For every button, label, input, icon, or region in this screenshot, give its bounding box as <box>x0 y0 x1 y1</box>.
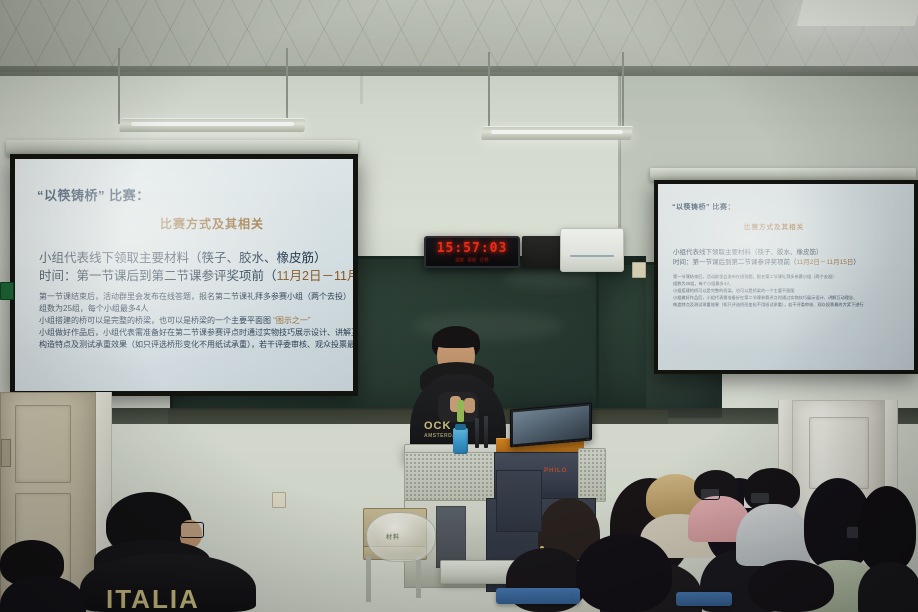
student-row-1-e-torso <box>858 562 918 612</box>
slide-line-2-prefix: 时间：第一节课后到第二节课参评奖项前（ <box>39 269 277 283</box>
student-row-1-e <box>858 486 918 612</box>
student-row-2-d-shirt <box>736 504 810 566</box>
slide-small-3-quote: “图示之一” <box>273 316 310 325</box>
student-row-0-c-hair <box>748 560 834 612</box>
student-row-0-c <box>748 560 838 612</box>
slide-small-5-right: 构造特点及测试承重效果（如只评选桥形变化不用纸试承重），若干评委审核、观众投票最… <box>673 302 864 308</box>
slide-small-4-right: 小组做好作品后，小组代表需准备好在第二节课参赛评点时通过实物技巧展示设计、讲解互… <box>673 295 857 301</box>
hanging-tube-light-left <box>119 118 306 132</box>
student-row-2-pink-glasses <box>700 488 720 500</box>
projection-screen-left: “以筷铸桥” 比赛： 比赛方式及其相关 小组代表线下领取主要材料（筷子、胶水、橡… <box>10 154 358 396</box>
ceiling-strip-light <box>797 0 918 26</box>
chair-leg-right <box>416 556 421 598</box>
microphone-stand-2 <box>484 416 488 448</box>
slide-subtitle: 比赛方式及其相关 <box>160 215 264 232</box>
student-row-2-d-glasses <box>750 492 770 504</box>
chair-leg-left <box>366 556 371 602</box>
podium-brand-label: PHILO <box>544 468 567 474</box>
slide-line-2-right-prefix: 时间：第一节课后到第二节课参评奖项前（ <box>673 259 797 266</box>
student-row-1-e-hair <box>858 486 916 572</box>
slide-left: “以筷铸桥” 比赛： 比赛方式及其相关 小组代表线下领取主要材料（筷子、胶水、橡… <box>15 159 353 391</box>
student-front-left-hoodie-text: ITALIA <box>106 584 200 612</box>
light-wire-1 <box>118 48 120 124</box>
side-cabinet <box>436 506 466 568</box>
student-row-0-b-hair <box>576 534 672 612</box>
slide-line-1-right: 小组代表线下领取主要材料（筷子、胶水、橡皮筋） <box>673 246 823 256</box>
lecture-hall-photo: “以筷铸桥” 比赛： 比赛方式及其相关 小组代表线下领取主要材料（筷子、胶水、橡… <box>0 0 918 612</box>
slide-small-4: 小组做好作品后，小组代表需准备好在第二节课参赛评点时通过实物技巧展示设计、讲解互… <box>39 327 353 338</box>
slide-small-1-right: 第一节课结束后，活动群里会发布在线答题，报名第二节课礼拜多参赛小组（两个去投） <box>673 274 836 280</box>
av-cabinet <box>496 470 542 532</box>
podium-monitor-screen <box>513 406 589 445</box>
student-front-far-left <box>0 540 80 612</box>
slide-line-2-right: 时间：第一节课后到第二节课参评奖项前（11月2日－11月15日） <box>673 256 860 266</box>
slide-small-2-right: 组数为25组，每个小组最多4人 <box>673 281 730 287</box>
door-panel-upper-left <box>15 405 71 483</box>
slide-line-2: 时间：第一节课后到第二节课参评奖项前（11月2日－11月15日） <box>39 265 353 284</box>
water-bottle-cap <box>455 424 466 430</box>
wall-power-outlet <box>632 262 646 278</box>
wall-mounted-ac-unit <box>560 228 624 272</box>
ceiling-edge-trim <box>0 66 918 76</box>
slide-heading-right: “以筷铸桥” 比赛： <box>672 202 735 212</box>
hanging-tube-light-right <box>481 126 633 140</box>
ac-vent-slot <box>570 255 615 257</box>
presenter-hand-right <box>464 398 475 413</box>
wall-power-outlet-3 <box>272 492 286 508</box>
presenter-fringe <box>433 328 479 348</box>
water-bottle <box>453 428 468 454</box>
podium-monitor <box>510 402 592 447</box>
light-wire-4 <box>622 52 624 134</box>
wall-speaker <box>522 236 564 268</box>
slide-line-2-right-date: 11月2日－11月15日 <box>797 259 854 266</box>
microphone-stand-1 <box>475 418 479 448</box>
presenter-hoodie-text: OCK <box>424 420 451 432</box>
digital-wall-clock: 15:57:03 温度 湿度 日期 <box>424 236 520 268</box>
student-front-left-glasses <box>180 522 204 538</box>
slide-right: “以筷铸桥” 比赛： 比赛方式及其相关 小组代表线下领取主要材料（筷子、胶水、橡… <box>658 184 914 370</box>
clock-time-display: 15:57:03 <box>437 242 508 255</box>
slide-small-5: 构造特点及测试承重效果（如只评选桥形变化不用纸试承重），若干评委审核、观众投票最… <box>39 339 353 350</box>
student-row-0-b <box>576 534 680 612</box>
seat-back-2 <box>676 592 732 606</box>
plastic-bag-materials[interactable] <box>366 512 436 562</box>
slide-small-3-right: 小组搭建的桥可以是完整的桥梁，也可以是桥梁的一个主要平面图 <box>673 288 794 294</box>
seat-back-1 <box>496 588 580 604</box>
demo-object-chopstick <box>457 400 464 422</box>
clock-sub-display: 温度 湿度 日期 <box>455 257 489 263</box>
projection-screen-right: “以筷铸桥” 比赛： 比赛方式及其相关 小组代表线下领取主要材料（筷子、胶水、橡… <box>654 180 918 374</box>
exit-sign <box>0 282 14 300</box>
slide-line-1: 小组代表线下领取主要材料（筷子、胶水、橡皮筋） <box>39 247 327 266</box>
slide-small-1: 第一节课结束后，活动群里会发布在线答题，报名第二节课礼拜多参赛小组（两个去投） <box>39 291 351 302</box>
student-row-2-d <box>736 468 806 564</box>
chalk-smudge-3 <box>503 269 593 289</box>
ceiling <box>0 0 918 72</box>
slide-heading: “以筷铸桥” 比赛： <box>37 185 150 204</box>
student-front-left: ITALIA <box>80 492 256 612</box>
light-wire-3 <box>488 52 490 130</box>
slide-small-2: 组数为25组，每个小组最多4人 <box>39 303 148 314</box>
slide-line-2-date: 11月2日－11月15日 <box>277 269 353 283</box>
light-wire-2 <box>286 48 288 126</box>
slide-small-3: 小组搭建的桥可以是完整的桥梁，也可以是桥梁的一个主要平面图 “图示之一” <box>39 315 311 326</box>
slide-subtitle-right: 比赛方式及其相关 <box>744 221 804 231</box>
slide-line-2-right-suffix: ） <box>853 259 860 266</box>
slide-small-3-text: 小组搭建的桥可以是完整的桥梁，也可以是桥梁的一个主要平面图 <box>39 316 273 325</box>
bag-logo-text: 材料 <box>386 532 400 541</box>
door-plate-left <box>1 439 11 467</box>
